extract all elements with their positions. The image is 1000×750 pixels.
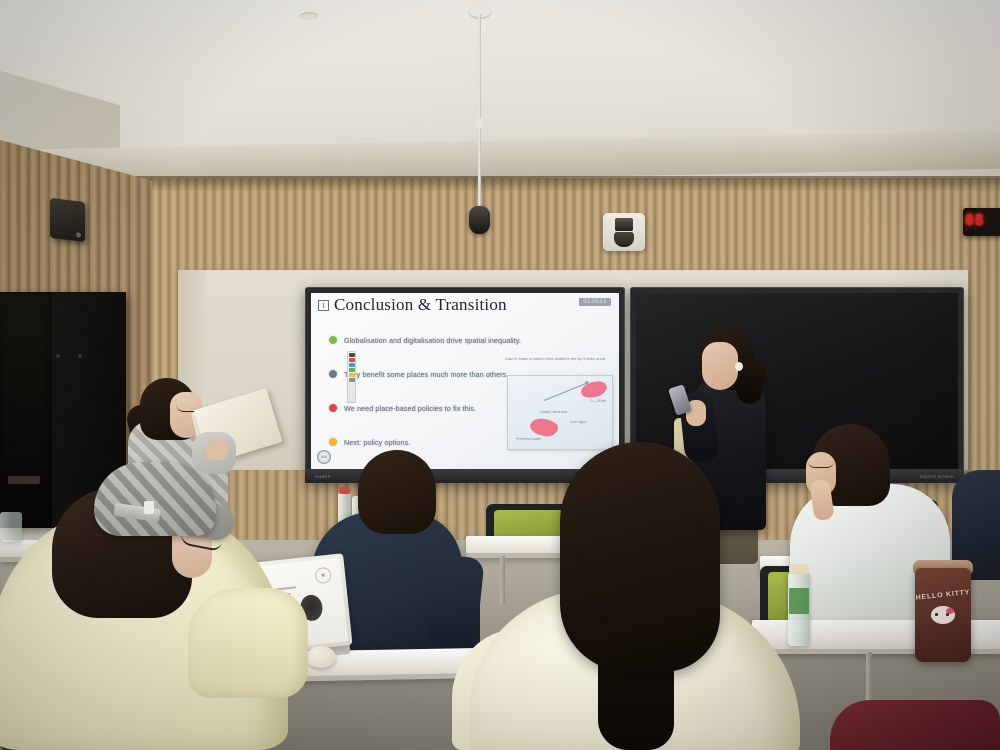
map-region-b	[529, 417, 559, 438]
desk-leg	[500, 556, 505, 604]
ceiling-mic-joint	[476, 118, 483, 128]
institution-logo-icon: UNI	[317, 450, 331, 464]
hello-kitty-tumbler[interactable]: HELLO KITTY	[915, 568, 971, 662]
map-caption: Case B: share of nation's firms located …	[505, 357, 619, 362]
bullet-dot-icon	[329, 336, 337, 344]
bullet-dot-icon	[329, 370, 337, 378]
more-icon[interactable]	[349, 378, 355, 382]
bottle-label	[789, 588, 809, 614]
rack-unit	[8, 476, 40, 484]
shape-icon[interactable]	[349, 373, 355, 377]
list-item: Globalisation and digitalisation drive s…	[329, 323, 613, 357]
pen-icon[interactable]	[349, 358, 355, 362]
slide-title: Conclusion & Transition	[334, 295, 507, 315]
student-navy-hair	[358, 450, 436, 534]
camera-body	[614, 232, 634, 247]
wall-camera	[603, 213, 645, 251]
map-scale-label: 0 — 50 km	[591, 399, 606, 403]
eraser-icon[interactable]	[349, 368, 355, 372]
earbud-icon	[735, 362, 743, 371]
slide-tag: 012533	[579, 298, 611, 306]
presenter-face	[702, 342, 738, 390]
presentation-display-surface: 1 Conclusion & Transition 012533 Globali…	[311, 293, 619, 469]
bullet-text: Globalisation and digitalisation drive s…	[344, 336, 521, 345]
student-navy-arm	[425, 554, 485, 653]
hello-kitty-tumbler-text: HELLO KITTY	[915, 589, 971, 602]
classroom-photo: 08 • • SHARP AQUOS BOARD 1 Conclusion & …	[0, 0, 1000, 750]
desk-object[interactable]	[306, 646, 336, 668]
highlighter-icon[interactable]	[349, 363, 355, 367]
drinking-glass[interactable]	[0, 512, 22, 542]
ceiling-vent-icon	[300, 12, 318, 20]
map-region-b-label: Peripheral cluster	[516, 437, 541, 441]
bullet-text: They benefit some places much more than …	[344, 370, 509, 379]
microphone-icon	[469, 206, 490, 234]
bow-icon	[946, 608, 954, 614]
display-model-label-right: AQUOS BOARD	[920, 474, 954, 479]
pointer-icon[interactable]	[349, 353, 355, 357]
bullet-dot-icon	[329, 438, 337, 446]
slide: 1 Conclusion & Transition 012533 Globali…	[311, 293, 619, 469]
camo-cap	[94, 462, 216, 536]
display-brand-label-left: SHARP	[315, 474, 331, 479]
bullet-dot-icon	[329, 404, 337, 412]
bullet-text: Next: policy options.	[344, 438, 410, 447]
glasses-icon	[808, 458, 834, 468]
bottle-cap	[789, 564, 809, 574]
student-reading-papers-hand	[206, 440, 228, 460]
slide-number: 1	[318, 300, 329, 311]
rack-open-bay	[0, 292, 52, 528]
camera-lens-icon	[615, 218, 633, 231]
student-cream-cap-arm	[188, 588, 308, 698]
ceiling-mic-rod	[478, 14, 481, 210]
document-seal-icon: ◉	[314, 567, 332, 585]
map-figure: 0 — 50 km Capital / talent flow Core reg…	[507, 375, 613, 450]
presentation-display[interactable]: 1 Conclusion & Transition 012533 Globali…	[305, 287, 625, 483]
bullet-text: We need place-based policies to fix this…	[344, 404, 476, 413]
hello-kitty-face-icon	[931, 606, 955, 624]
draped-garment	[830, 700, 1000, 750]
map-region-a-label: Core region	[570, 420, 587, 424]
map-flow-label: Capital / talent flow	[540, 410, 567, 414]
led-sign: 08 • •	[963, 208, 1000, 236]
student-long-hair-head	[560, 442, 720, 672]
rack-screw-icon	[56, 354, 60, 358]
led-sign-subtext: • •	[966, 227, 980, 233]
annotation-toolbar[interactable]	[347, 351, 356, 403]
bottle-cap	[339, 487, 350, 494]
wall-speaker-icon	[50, 198, 85, 242]
cap-badge-icon	[144, 501, 154, 514]
